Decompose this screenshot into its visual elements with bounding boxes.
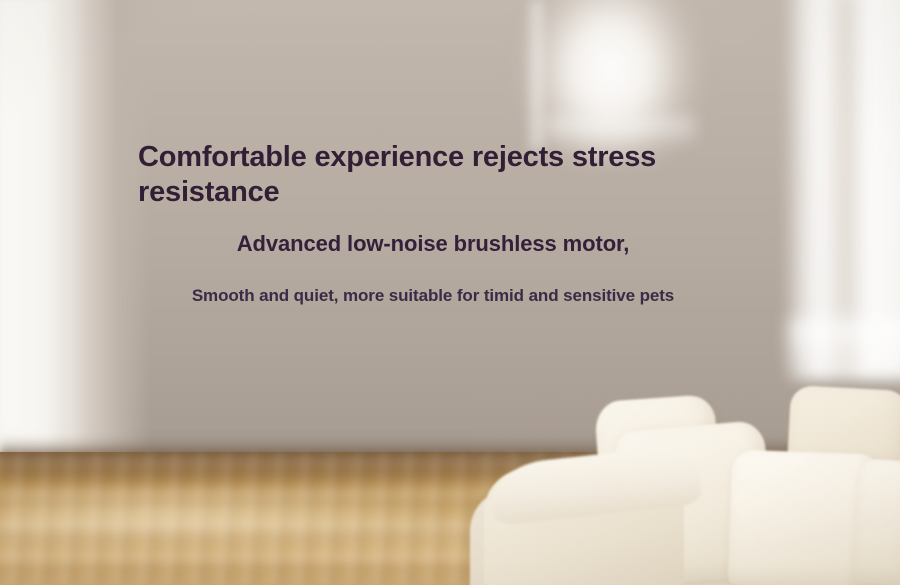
- subheadline: Advanced low-noise brushless motor,: [128, 231, 738, 257]
- banner-copy: Comfortable experience rejects stress re…: [0, 0, 900, 585]
- tagline: Smooth and quiet, more suitable for timi…: [128, 286, 738, 306]
- product-feature-banner: Comfortable experience rejects stress re…: [0, 0, 900, 585]
- headline: Comfortable experience rejects stress re…: [138, 140, 698, 211]
